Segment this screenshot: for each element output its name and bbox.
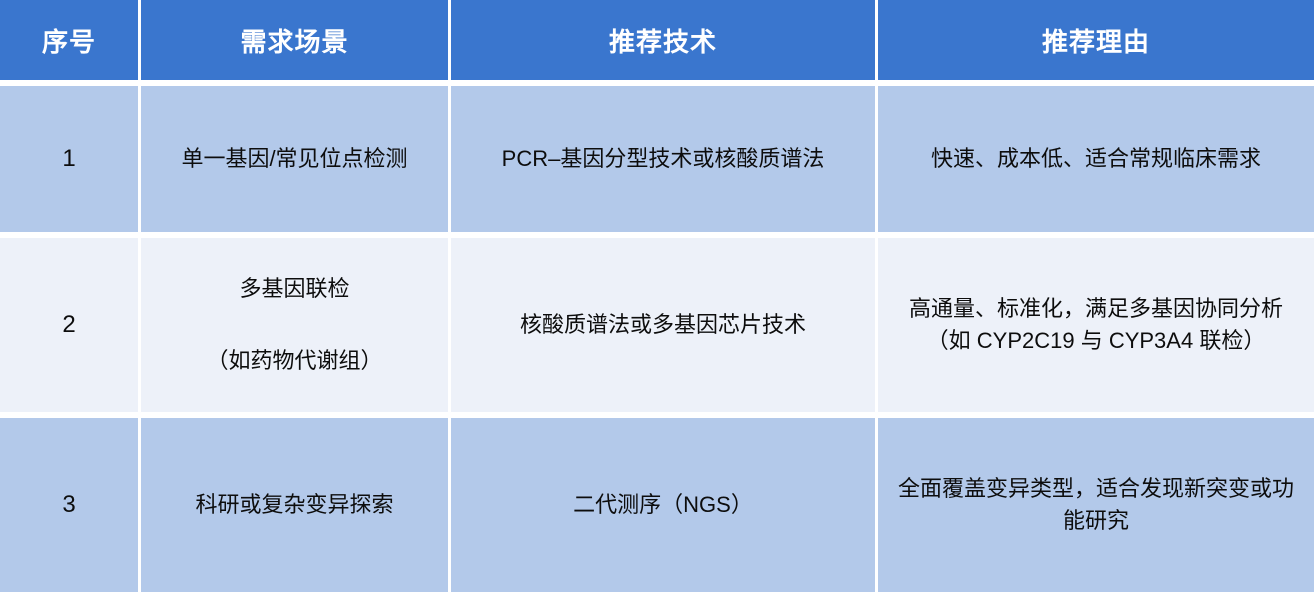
cell-technique: 二代测序（NGS） — [451, 418, 875, 592]
column-header-scenario: 需求场景 — [141, 0, 448, 80]
column-header-rationale: 推荐理由 — [878, 0, 1314, 80]
table-header-row: 序号 需求场景 推荐技术 推荐理由 — [0, 0, 1314, 86]
scenario-text: 科研或复杂变异探索 — [155, 489, 434, 521]
cell-rationale: 高通量、标准化，满足多基因协同分析（如 CYP2C19 与 CYP3A4 联检） — [878, 238, 1314, 412]
technique-text: 二代测序（NGS） — [465, 489, 861, 521]
scenario-text-group: 多基因联检 （如药物代谢组） — [155, 273, 434, 377]
cell-technique: 核酸质谱法或多基因芯片技术 — [451, 238, 875, 412]
cell-scenario: 单一基因/常见位点检测 — [141, 86, 448, 232]
scenario-text-line-1: 多基因联检 — [155, 273, 434, 305]
cell-index: 1 — [0, 86, 138, 232]
cell-scenario: 多基因联检 （如药物代谢组） — [141, 238, 448, 412]
recommendation-table: 序号 需求场景 推荐技术 推荐理由 1 单一基因/常见位点检测 PCR–基因分型… — [0, 0, 1314, 596]
row-index-value: 2 — [62, 308, 75, 343]
cell-scenario: 科研或复杂变异探索 — [141, 418, 448, 592]
technique-text: 核酸质谱法或多基因芯片技术 — [465, 309, 861, 341]
cell-index: 2 — [0, 238, 138, 412]
cell-index: 3 — [0, 418, 138, 592]
column-header-technique-label: 推荐技术 — [609, 22, 717, 59]
row-index-value: 3 — [62, 488, 75, 523]
rationale-text: 高通量、标准化，满足多基因协同分析（如 CYP2C19 与 CYP3A4 联检） — [892, 293, 1300, 357]
technique-text: PCR–基因分型技术或核酸质谱法 — [465, 143, 861, 175]
column-header-rationale-label: 推荐理由 — [1042, 22, 1150, 59]
column-header-scenario-label: 需求场景 — [240, 22, 348, 59]
column-header-technique: 推荐技术 — [451, 0, 875, 80]
row-index-value: 1 — [62, 142, 75, 177]
scenario-text: 单一基因/常见位点检测 — [155, 143, 434, 175]
table-row: 3 科研或复杂变异探索 二代测序（NGS） 全面覆盖变异类型，适合发现新突变或功… — [0, 418, 1314, 596]
scenario-text-line-2: （如药物代谢组） — [155, 345, 434, 377]
column-header-index-label: 序号 — [42, 22, 96, 59]
rationale-text: 快速、成本低、适合常规临床需求 — [892, 143, 1300, 175]
rationale-text: 全面覆盖变异类型，适合发现新突变或功能研究 — [892, 473, 1300, 537]
column-header-index: 序号 — [0, 0, 138, 80]
cell-technique: PCR–基因分型技术或核酸质谱法 — [451, 86, 875, 232]
table-row: 2 多基因联检 （如药物代谢组） 核酸质谱法或多基因芯片技术 高通量、标准化，满… — [0, 238, 1314, 418]
cell-rationale: 全面覆盖变异类型，适合发现新突变或功能研究 — [878, 418, 1314, 592]
table-row: 1 单一基因/常见位点检测 PCR–基因分型技术或核酸质谱法 快速、成本低、适合… — [0, 86, 1314, 238]
cell-rationale: 快速、成本低、适合常规临床需求 — [878, 86, 1314, 232]
